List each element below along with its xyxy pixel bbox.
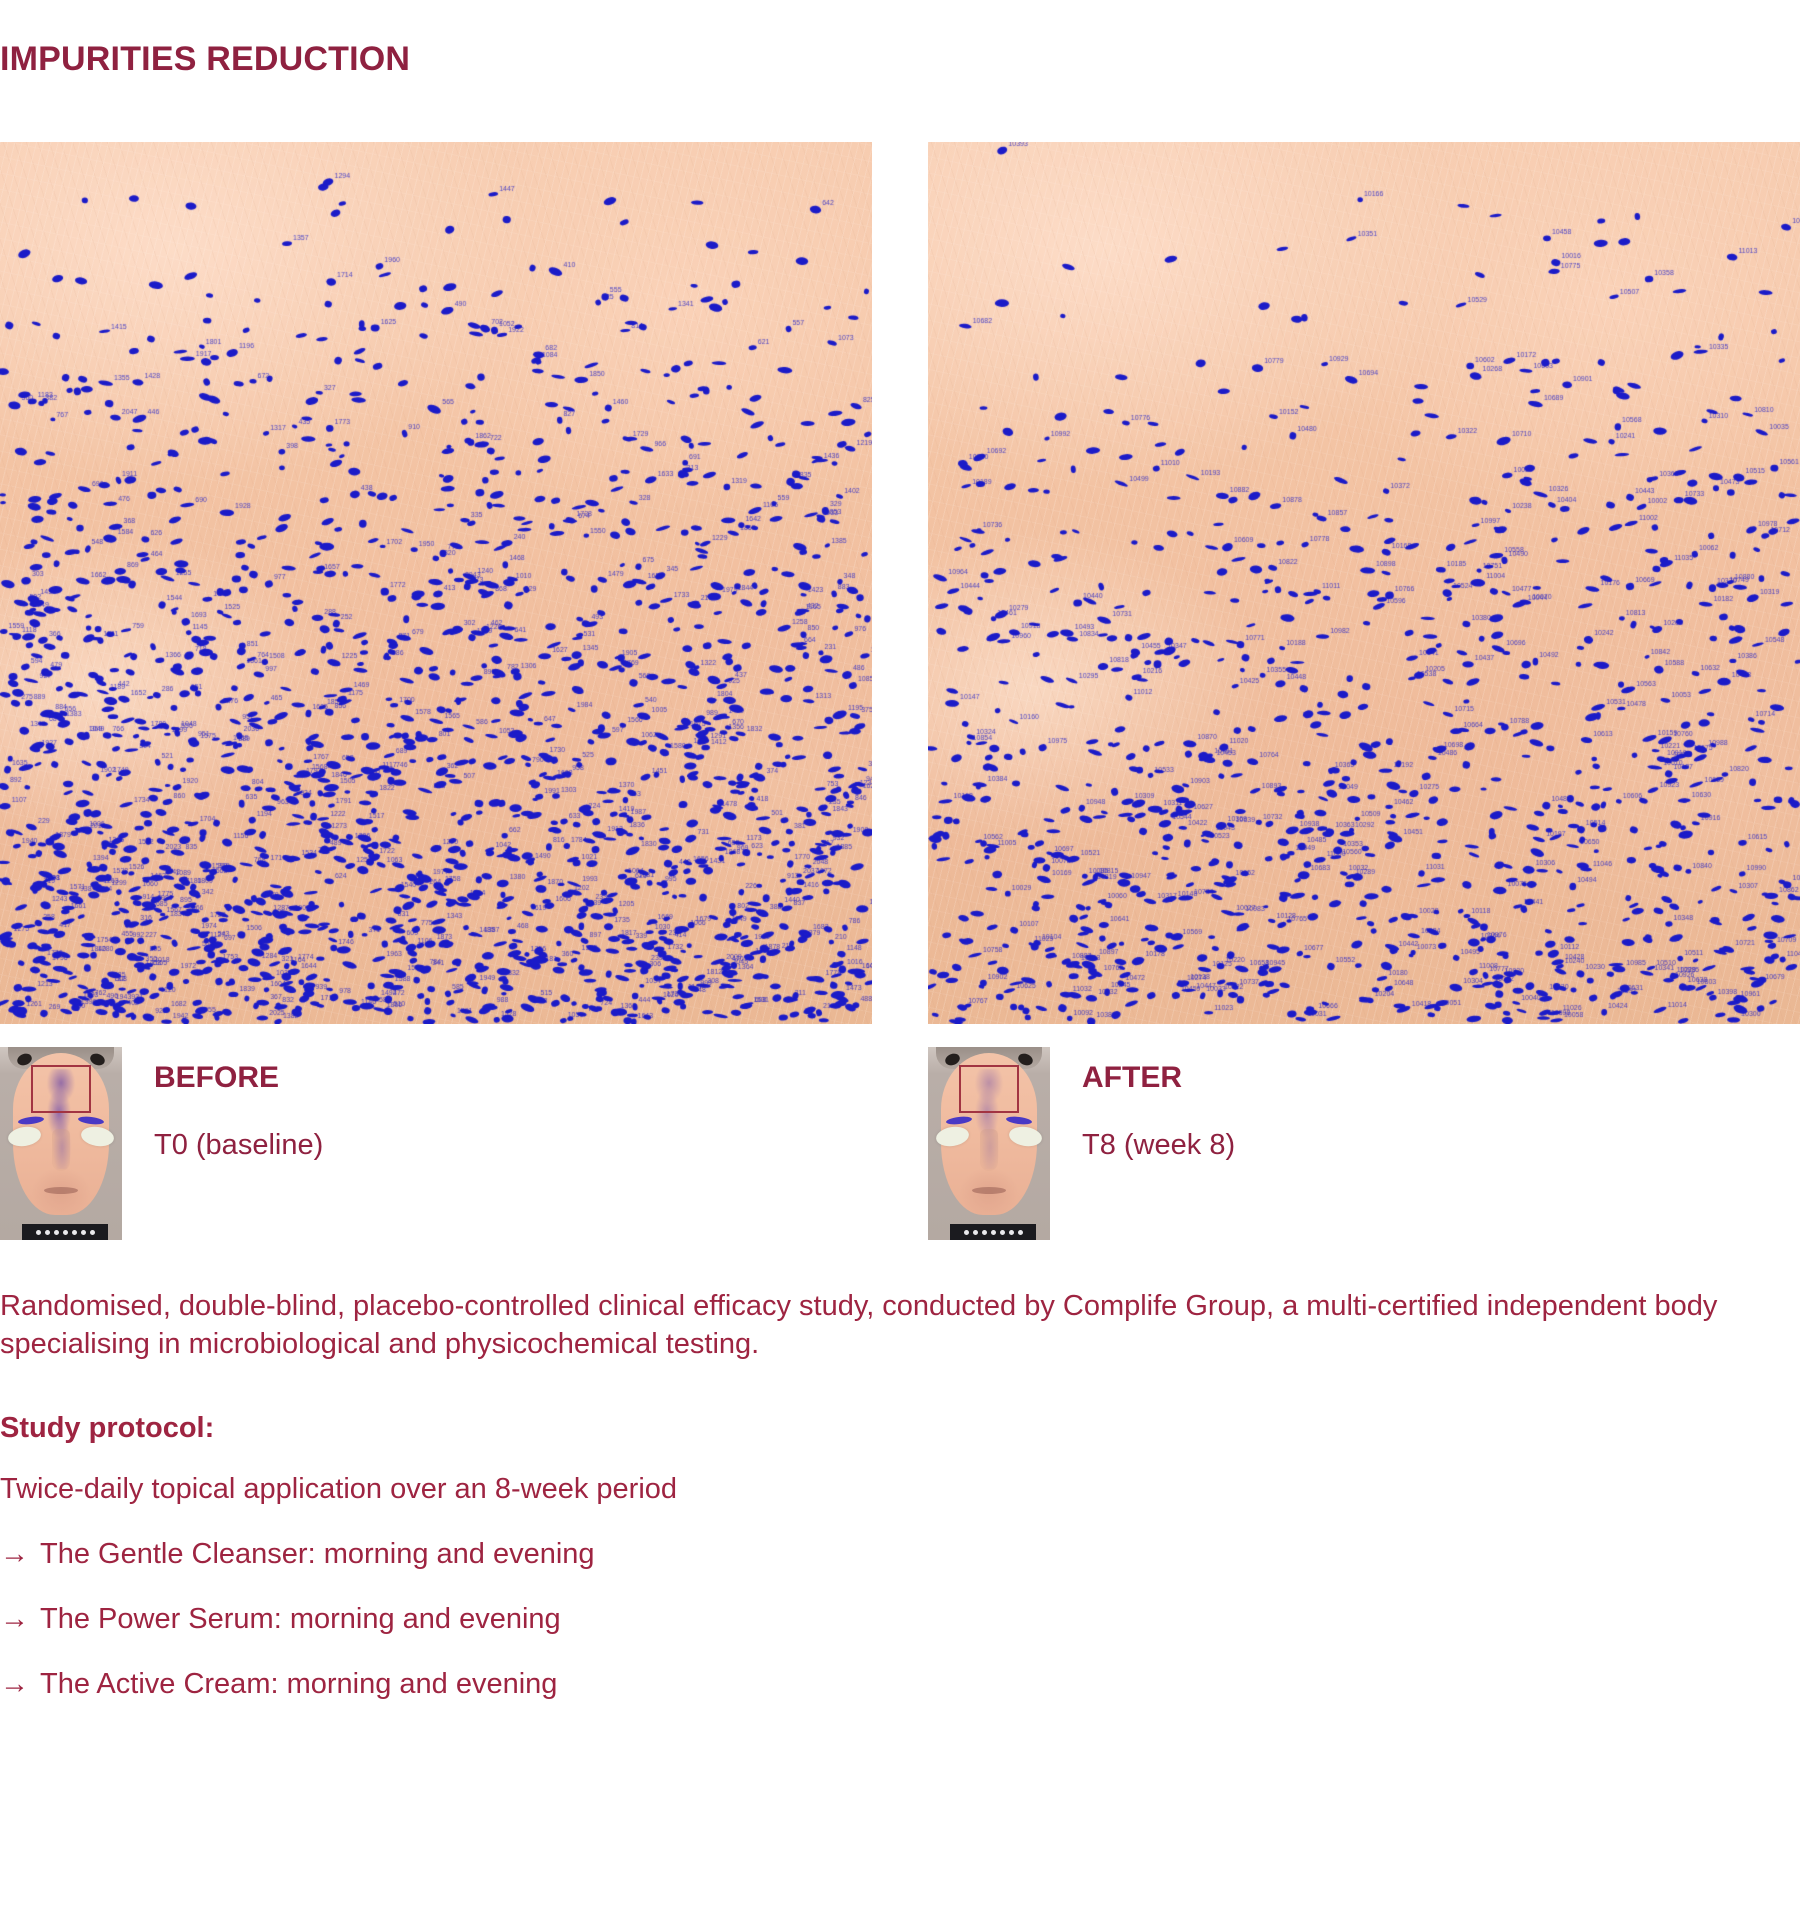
protocol-intro: Twice-daily topical application over an … [0, 1472, 1800, 1507]
impurity-markers-before [0, 142, 872, 1024]
caption-timepoint-after: T8 (week 8) [1082, 1130, 1235, 1162]
protocol-heading: Study protocol: [0, 1411, 1800, 1446]
impurity-markers-after [928, 142, 1800, 1024]
protocol-item: →The Power Serum: morning and evening [0, 1602, 1800, 1637]
protocol-item-label: The Gentle Cleanser: morning and evening [40, 1537, 595, 1572]
face-thumbnail-before [0, 1047, 122, 1240]
chin-rest-bar [22, 1224, 108, 1240]
study-paragraph: Randomised, double-blind, placebo-contro… [0, 1288, 1790, 1363]
skin-image-before [0, 142, 872, 1024]
caption-row: BEFORE T0 (baseline) AFTER T8 (week 8) [0, 1047, 1800, 1247]
nose-shape [980, 1129, 998, 1171]
region-of-interest-box [31, 1065, 91, 1113]
caption-before: BEFORE T0 (baseline) [0, 1047, 323, 1240]
protocol-list: →The Gentle Cleanser: morning and evenin… [0, 1537, 1800, 1701]
page-title: IMPURITIES REDUCTION [0, 42, 410, 76]
arrow-right-icon: → [0, 1670, 29, 1699]
protocol-item: →The Active Cream: morning and evening [0, 1667, 1800, 1702]
protocol-item-label: The Power Serum: morning and evening [40, 1602, 561, 1637]
region-of-interest-box [959, 1065, 1019, 1113]
protocol-item: →The Gentle Cleanser: morning and evenin… [0, 1537, 1800, 1572]
arrow-right-icon: → [0, 1605, 29, 1634]
image-comparison-panels [0, 142, 1800, 1024]
nose-shape [52, 1129, 70, 1171]
caption-timepoint-before: T0 (baseline) [154, 1130, 323, 1162]
mouth-shape [44, 1187, 78, 1194]
mouth-shape [972, 1187, 1006, 1194]
skin-image-after [928, 142, 1800, 1024]
arrow-right-icon: → [0, 1540, 29, 1569]
caption-text-after: AFTER T8 (week 8) [1082, 1047, 1235, 1162]
chin-rest-bar [950, 1224, 1036, 1240]
caption-heading-after: AFTER [1082, 1061, 1235, 1094]
caption-heading-before: BEFORE [154, 1061, 323, 1094]
caption-after: AFTER T8 (week 8) [928, 1047, 1235, 1240]
study-description: Randomised, double-blind, placebo-contro… [0, 1288, 1800, 1701]
caption-text-before: BEFORE T0 (baseline) [154, 1047, 323, 1162]
face-thumbnail-after [928, 1047, 1050, 1240]
protocol-item-label: The Active Cream: morning and evening [40, 1667, 557, 1702]
